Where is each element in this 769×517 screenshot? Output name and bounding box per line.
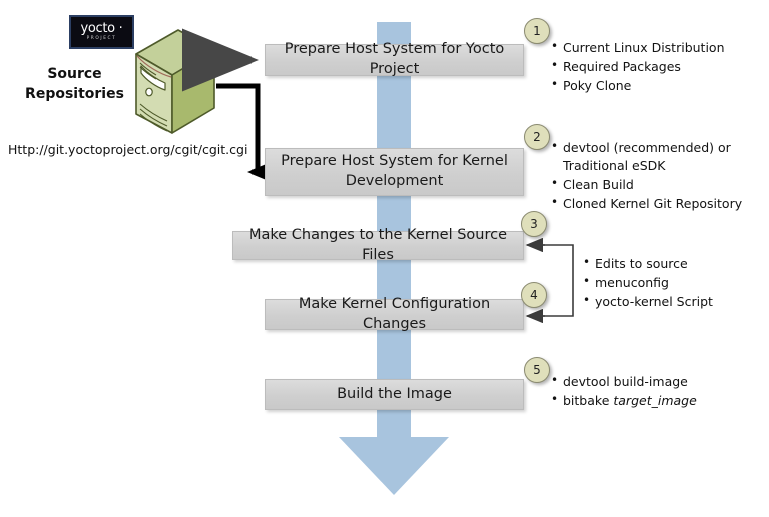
process-box-step-5[interactable]: Build the Image <box>265 379 524 410</box>
note-item-emphasis: target_image <box>613 393 696 408</box>
process-box-step-1[interactable]: Prepare Host System for Yocto Project <box>265 44 524 76</box>
flow-arrow-head <box>339 437 449 495</box>
process-box-step-4[interactable]: Make Kernel Configuration Changes <box>265 299 524 330</box>
notes-step-1: Current Linux Distribution Required Pack… <box>551 39 766 96</box>
notes-steps-3-4: Edits to source menuconfig yocto-kernel … <box>583 255 763 312</box>
step-badge-3: 3 <box>521 211 547 237</box>
note-item: yocto-kernel Script <box>583 293 763 311</box>
note-item: Poky Clone <box>551 77 766 95</box>
notes-step-2: devtool (recommended) or Traditional eSD… <box>551 139 756 215</box>
workflow-diagram: yocto · PROJECT Source Repositories Http… <box>0 0 769 517</box>
server-tower-icon <box>134 28 216 142</box>
note-item: Current Linux Distribution <box>551 39 766 57</box>
note-item: Clean Build <box>551 176 756 194</box>
source-repositories-label-line2: Repositories <box>12 84 137 104</box>
source-repositories-url: Http://git.yoctoproject.org/cgit/cgit.cg… <box>8 142 247 157</box>
note-item-prefix: bitbake <box>563 393 613 408</box>
note-item: bitbake target_image <box>551 392 751 410</box>
note-item: Required Packages <box>551 58 766 76</box>
note-item: menuconfig <box>583 274 763 292</box>
arrow-server-to-step2 <box>216 86 258 172</box>
process-box-step-3[interactable]: Make Changes to the Kernel Source Files <box>232 231 524 260</box>
logo-wordmark: yocto · <box>80 22 122 35</box>
step-badge-5: 5 <box>524 357 550 383</box>
process-box-step-2[interactable]: Prepare Host System for Kernel Developme… <box>265 148 524 196</box>
source-repositories-label: Source Repositories <box>12 64 137 105</box>
yocto-project-logo: yocto · PROJECT <box>69 15 134 49</box>
step-badge-2: 2 <box>524 124 550 150</box>
logo-subtext: PROJECT <box>87 37 117 41</box>
note-item: devtool build-image <box>551 373 751 391</box>
bracket-steps-3-4 <box>539 245 573 316</box>
notes-step-5: devtool build-image bitbake target_image <box>551 373 751 411</box>
note-item: Edits to source <box>583 255 763 273</box>
note-item: Cloned Kernel Git Repository <box>551 195 756 213</box>
source-repositories-label-line1: Source <box>12 64 137 84</box>
step-badge-1: 1 <box>524 18 550 44</box>
step-badge-4: 4 <box>521 282 547 308</box>
note-item: devtool (recommended) or Traditional eSD… <box>551 139 756 175</box>
